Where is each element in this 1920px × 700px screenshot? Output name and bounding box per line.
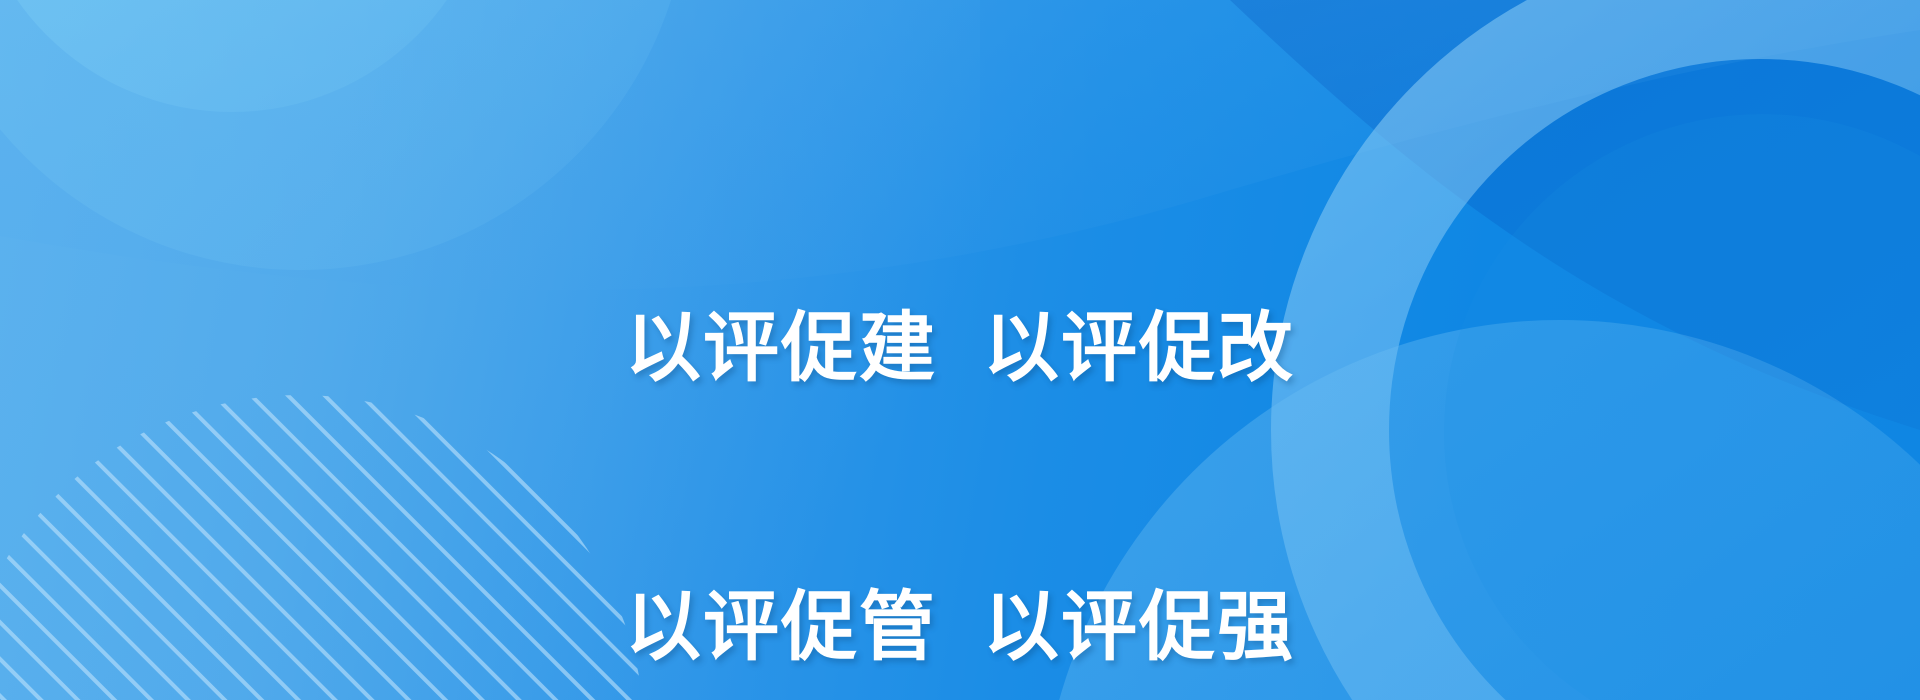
headline-line-1-part-2: 以评促改	[983, 306, 1295, 391]
promo-banner: 以评促建以评促改 以评促管以评促强 扎实推进新一轮本科教育教学审核评估工作	[0, 0, 1920, 700]
headline-line-1: 以评促建以评促改	[625, 303, 1295, 396]
headline-line-2: 以评促管以评促强	[625, 582, 1295, 675]
headline: 以评促建以评促改 以评促管以评促强	[625, 118, 1295, 700]
headline-line-2-part-1: 以评促管	[625, 585, 937, 670]
headline-line-2-part-2: 以评促强	[983, 585, 1295, 670]
headline-line-1-part-1: 以评促建	[625, 306, 937, 391]
banner-content: 以评促建以评促改 以评促管以评促强 扎实推进新一轮本科教育教学审核评估工作	[0, 0, 1920, 700]
